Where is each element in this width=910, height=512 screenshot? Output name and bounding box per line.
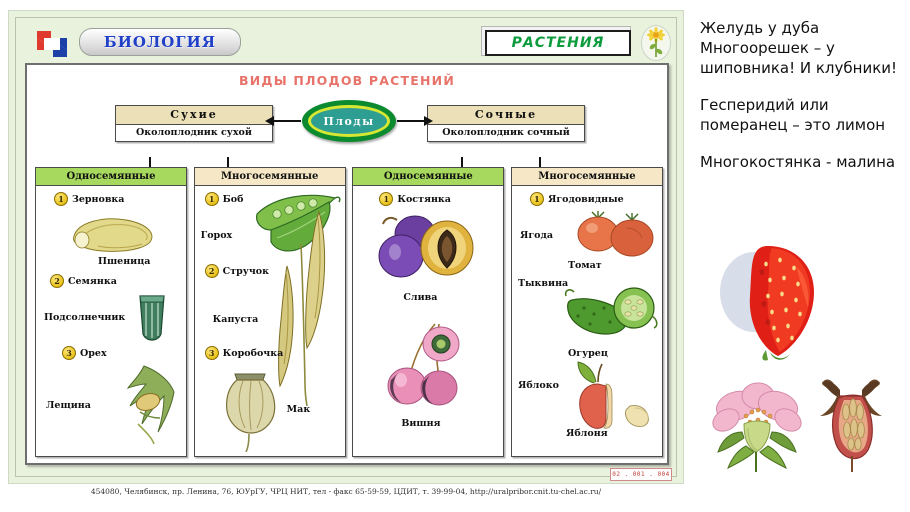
badge-number: 1: [530, 192, 544, 206]
entry-label: Боб: [223, 194, 244, 205]
column-dry-many-seed: Многосемянные 1 Боб: [194, 167, 346, 457]
column-2-header: Многосемянные: [195, 168, 345, 186]
badge-number: 2: [205, 264, 219, 278]
entry-oreh: 3 Орех: [62, 346, 107, 360]
entry-korobochka: 3 Коробочка: [205, 346, 284, 360]
cherry-icon: [377, 314, 481, 412]
entry-bob: 1 Боб: [205, 192, 244, 206]
top-category-row: Сухие Околоплодник сухой Сочные Околопло…: [27, 95, 667, 157]
rosehip-cross-section-diagram: [810, 376, 892, 472]
brand-pill: БИОЛОГИЯ: [79, 28, 241, 56]
category-juicy: Сочные Околоплодник сочный: [427, 105, 585, 142]
column-juicy-one-seed: Односемянные 1 Костянка: [352, 167, 504, 457]
entry-label: Костянка: [397, 194, 451, 205]
entry-label: Коробочка: [223, 348, 284, 359]
plant-label-goroh: Горох: [201, 230, 233, 241]
fruit-columns: Односемянные 1 Зерновка Пшеница 2: [35, 167, 663, 457]
badge-number: 1: [54, 192, 68, 206]
entry-label: Ягодовидные: [548, 194, 624, 205]
notes-panel: Желудь у дуба Многоорешек – у шиповника!…: [700, 18, 905, 498]
entry-label: Зерновка: [72, 194, 124, 205]
category-juicy-sub: Околоплодник сочный: [428, 125, 584, 141]
red-blue-arrows-logo-icon: [35, 29, 69, 59]
column-juicy-many-seed: Многосемянные 1 Ягодовидные Ягода: [511, 167, 663, 457]
sunflower-icon: [641, 25, 671, 61]
plant-label-kapusta: Капуста: [213, 314, 259, 325]
note-2: Гесперидий или померанец – это лимон: [700, 95, 905, 135]
tomato-icon: [568, 208, 658, 260]
sunflower-seed-icon: [132, 290, 172, 346]
category-dry: Сухие Околоплодник сухой: [115, 105, 273, 142]
poster-footer: 454080, Челябинск, пр. Ленина, 76, ЮУрГУ…: [8, 487, 684, 496]
plant-label-yagoda: Ягода: [520, 230, 553, 241]
cucumber-icon: [558, 282, 660, 348]
strawberry-photo: [710, 240, 832, 365]
plant-label-yabloko: Яблоко: [518, 380, 559, 391]
center-node-plody: Плоды: [302, 100, 396, 142]
entry-label: Орех: [80, 348, 107, 359]
arrow-to-dry-icon: [273, 120, 301, 122]
entry-kostyanka: 1 Костянка: [379, 192, 451, 206]
plant-label-mak: Мак: [287, 404, 311, 415]
note-1: Желудь у дуба Многоорешек – у шиповника!…: [700, 18, 905, 78]
section-badge: РАСТЕНИЯ: [481, 26, 631, 56]
column-4-header: Многосемянные: [512, 168, 662, 186]
plant-label-tomat: Томат: [568, 260, 602, 271]
column-1-header: Односемянные: [36, 168, 186, 186]
plant-label-sliva: Слива: [403, 292, 437, 303]
poster-code-text: 02 . 001 . 004: [612, 471, 670, 478]
chart-card: ВИДЫ ПЛОДОВ РАСТЕНИЙ Сухие Околоплодник …: [25, 63, 669, 465]
badge-number: 1: [379, 192, 393, 206]
badge-number: 1: [205, 192, 219, 206]
note-3: Многокостянка - малина: [700, 152, 905, 172]
entry-semyanka: 2 Семянка: [50, 274, 117, 288]
badge-number: 3: [205, 346, 219, 360]
hazelnut-icon: [118, 362, 180, 446]
entry-yagodovidnye: 1 Ягодовидные: [530, 192, 624, 206]
category-juicy-label: Сочные: [428, 106, 584, 125]
biology-poster: БИОЛОГИЯ РАСТЕНИЯ: [8, 10, 684, 484]
apple-icon: [564, 358, 656, 434]
section-label: РАСТЕНИЯ: [512, 35, 605, 51]
plant-label-vishnya: Вишня: [401, 418, 440, 429]
rosehip-flower-diagram: [712, 380, 802, 472]
plant-label-podsolnechnik: Подсолнечник: [44, 312, 125, 323]
column-3-header: Односемянные: [353, 168, 503, 186]
entry-zernovka: 1 Зерновка: [54, 192, 124, 206]
poster-code: 02 . 001 . 004: [610, 468, 672, 481]
entry-label: Семянка: [68, 276, 117, 287]
brand-label: БИОЛОГИЯ: [104, 33, 216, 51]
wheat-grain-icon: [64, 212, 160, 256]
badge-number: 2: [50, 274, 64, 288]
entry-struchok: 2 Стручок: [205, 264, 269, 278]
plant-label-pshenica: Пшеница: [98, 256, 150, 267]
plum-icon: [371, 212, 487, 288]
chart-title: ВИДЫ ПЛОДОВ РАСТЕНИЙ: [27, 73, 667, 88]
arrow-to-juicy-icon: [397, 120, 425, 122]
center-node-label: Плоды: [323, 115, 374, 128]
category-dry-label: Сухие: [116, 106, 272, 125]
category-dry-sub: Околоплодник сухой: [116, 125, 272, 141]
badge-number: 3: [62, 346, 76, 360]
poster-header: БИОЛОГИЯ РАСТЕНИЯ: [23, 23, 671, 65]
plant-label-leshina: Лещина: [46, 400, 91, 411]
plant-label-yablonya: Яблоня: [566, 428, 608, 439]
poppy-capsule-icon: [219, 368, 281, 452]
column-dry-one-seed: Односемянные 1 Зерновка Пшеница 2: [35, 167, 187, 457]
